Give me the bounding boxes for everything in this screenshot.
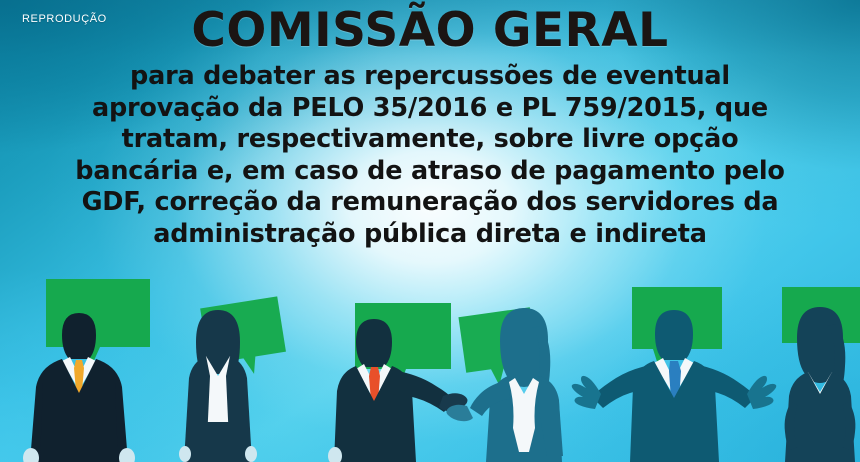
poster-copy-block: COMISSÃO GERAL para debater as repercuss… (0, 4, 860, 250)
poster-body-text: para debater as repercussões de eventual… (18, 61, 842, 250)
body-line-3: tratam, respectivamente, sobre livre opç… (18, 124, 842, 156)
silhouette-figures-band (0, 272, 860, 462)
figure-5-man-blue-tie (572, 310, 777, 462)
body-line-4: bancária e, em caso de atraso de pagamen… (18, 156, 842, 188)
poster-image: REPRODUÇÃO COMISSÃO GERAL para debater a… (0, 0, 860, 462)
body-line-6: administração pública direta e indireta (18, 219, 842, 251)
speech-bubble-1 (46, 279, 150, 365)
body-line-1: para debater as repercussões de eventual (18, 61, 842, 93)
figures-illustration (0, 272, 860, 462)
body-line-5: GDF, correção da remuneração dos servido… (18, 187, 842, 219)
page-title: COMISSÃO GERAL (18, 4, 842, 58)
body-line-2: aprovação da PELO 35/2016 e PL 759/2015,… (18, 93, 842, 125)
